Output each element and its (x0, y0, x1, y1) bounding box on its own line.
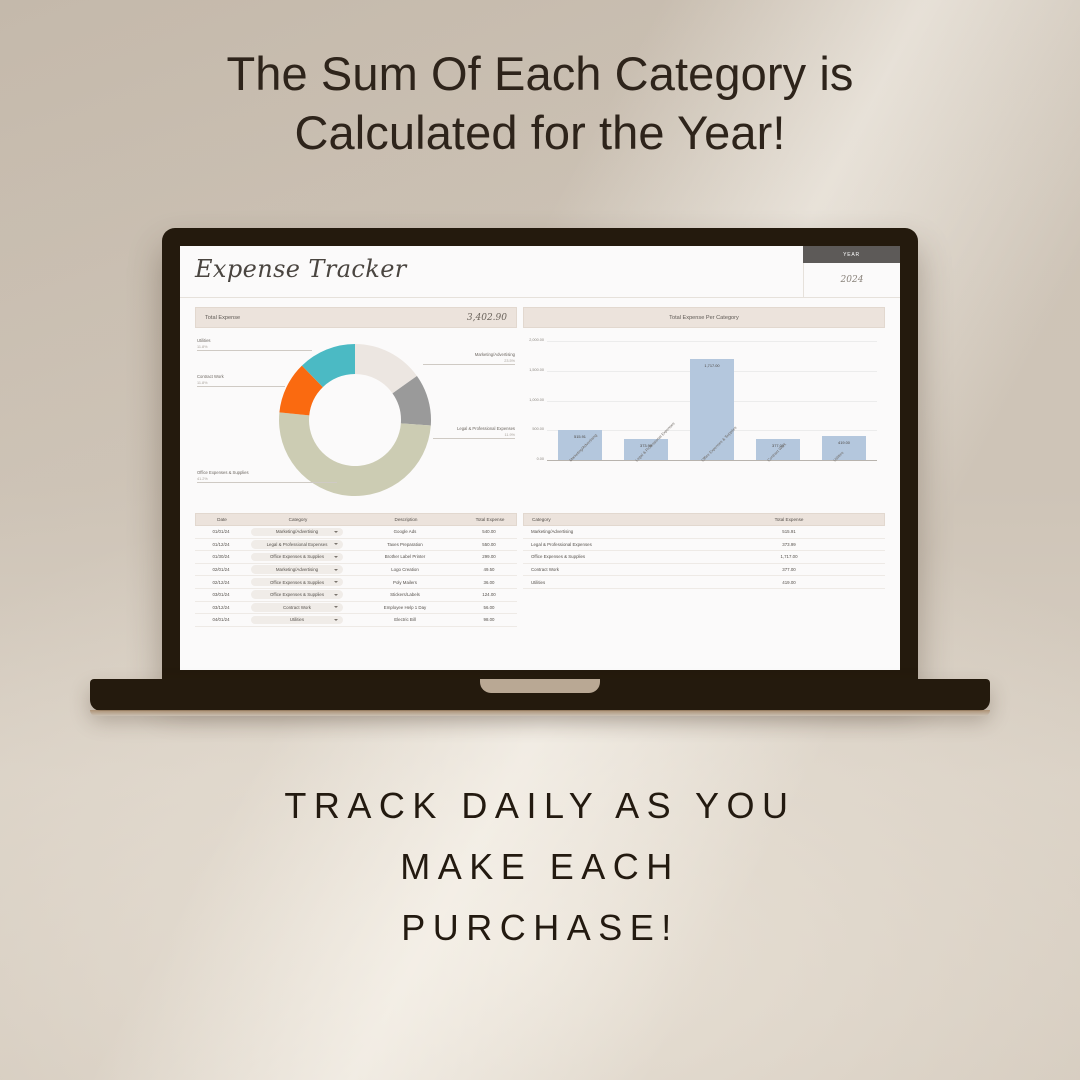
year-selector[interactable]: YEAR 2024 (803, 246, 900, 297)
category-dropdown[interactable]: Marketing/Advertising (251, 528, 343, 537)
year-label: YEAR (803, 246, 900, 263)
cell-description: Poly Mailers (347, 580, 463, 585)
category-dropdown-value: Legal & Professional Expenses (267, 542, 328, 547)
cell-description: Stickers/Labels (347, 592, 463, 597)
bar-column: 1,717.00 (690, 342, 734, 461)
table-row[interactable]: 03/01/24Office Expenses & SuppliesSticke… (195, 589, 517, 602)
y-tick-label: 500.00 (532, 427, 544, 431)
table-row: Office Expenses & Supplies1,717.00 (523, 551, 885, 564)
category-dropdown[interactable]: Contract Work (251, 603, 343, 612)
col-header-date: Date (196, 517, 248, 522)
app-header: Expense Tracker YEAR 2024 (180, 246, 900, 298)
y-tick-label: 0.00 (537, 457, 544, 461)
headline: The Sum Of Each Category is Calculated f… (0, 44, 1080, 162)
cell-category: Utilities (523, 580, 693, 585)
category-dropdown[interactable]: Office Expenses & Supplies (251, 590, 343, 599)
bar-column: 373.99 (624, 342, 668, 461)
cell-amount: 550.00 (463, 542, 515, 547)
chevron-down-icon[interactable] (334, 594, 338, 596)
chevron-down-icon[interactable] (334, 569, 338, 571)
cell-date: 01/01/24 (195, 529, 247, 534)
table-row[interactable]: 01/30/24Office Expenses & SuppliesBrothe… (195, 551, 517, 564)
bar-value-label: 1,717.00 (704, 363, 719, 368)
category-dropdown[interactable]: Legal & Professional Expenses (251, 540, 343, 549)
cell-amount: 540.00 (463, 529, 515, 534)
donut-label-office: Office Expenses & Supplies 41.2% (197, 470, 249, 482)
col-header-amount: Total Expense (464, 517, 516, 522)
kpi-header-row: Total Expense 3,402.90 Total Expense Per… (180, 298, 900, 328)
cell-description: Electric Bill (347, 617, 463, 622)
y-tick-label: 2,000.00 (529, 338, 544, 342)
total-expense-label: Total Expense (205, 315, 240, 321)
transactions-table-header: Date Category Description Total Expense (195, 513, 517, 526)
leader-line-marketing (423, 364, 515, 365)
x-tick: Marketing/Advertising (558, 459, 602, 499)
donut-label-utilities: Utilities 11.8% (197, 338, 211, 350)
cell-date: 02/12/24 (195, 580, 247, 585)
category-dropdown-value: Office Expenses & Supplies (270, 580, 324, 585)
donut-chart-panel: Utilities 11.8% Contract Work 11.8% Offi… (195, 332, 517, 507)
bar-value-label: 515.91 (574, 434, 586, 439)
bar-value-label: 419.00 (838, 440, 850, 445)
cell-amount: 36.00 (463, 580, 515, 585)
cell-category[interactable]: Legal & Professional Expenses (247, 540, 347, 549)
table-row: Marketing/Advertising515.91 (523, 526, 885, 539)
table-row[interactable]: 01/01/24Marketing/AdvertisingGoogle Ads5… (195, 526, 517, 539)
category-dropdown[interactable]: Office Expenses & Supplies (251, 553, 343, 562)
category-dropdown[interactable]: Office Expenses & Supplies (251, 578, 343, 587)
cell-date: 03/01/24 (195, 592, 247, 597)
donut-label-contract-work: Contract Work 11.8% (197, 374, 224, 386)
donut-chart (275, 340, 435, 500)
table-row[interactable]: 02/01/24Marketing/AdvertisingLogo Creati… (195, 564, 517, 577)
footer-line-2: Make Each (0, 836, 1080, 897)
expense-tracker-app: Expense Tracker YEAR 2024 Total Expense … (180, 246, 900, 670)
cell-amount: 124.00 (463, 592, 515, 597)
cell-date: 01/12/24 (195, 542, 247, 547)
charts-row: Utilities 11.8% Contract Work 11.8% Offi… (180, 328, 900, 507)
cell-category: Contract Work (523, 567, 693, 572)
x-tick: Legal & Professional Expenses (624, 459, 668, 499)
x-tick: Utilities (822, 459, 866, 499)
cell-description: Employee Help 1 Day (347, 605, 463, 610)
cell-date: 01/30/24 (195, 554, 247, 559)
transactions-table: Date Category Description Total Expense … (195, 513, 517, 627)
chevron-down-icon[interactable] (334, 543, 338, 545)
summary-table: Category Total Expense Marketing/Adverti… (523, 513, 885, 627)
y-tick-label: 1,500.00 (529, 368, 544, 372)
y-tick-label: 1,000.00 (529, 398, 544, 402)
leader-line-contract-work (197, 386, 285, 387)
bar-chart-panel: 0.00500.001,000.001,500.002,000.00 515.9… (523, 332, 885, 507)
cell-amount: 1,717.00 (693, 554, 885, 559)
table-row[interactable]: 02/12/24Office Expenses & SuppliesPoly M… (195, 576, 517, 589)
cell-category: Marketing/Advertising (523, 529, 693, 534)
x-tick: Contract Work (756, 459, 800, 499)
laptop-base (90, 679, 990, 711)
donut-label-marketing: Marketing/Advertising 23.5% (475, 352, 515, 364)
cell-amount: 299.00 (463, 554, 515, 559)
headline-line-2: Calculated for the Year! (0, 103, 1080, 162)
table-row[interactable]: 01/12/24Legal & Professional ExpensesTax… (195, 539, 517, 552)
cell-amount: 515.91 (693, 529, 885, 534)
summary-col-header-amount: Total Expense (694, 517, 884, 522)
category-dropdown-value: Office Expenses & Supplies (270, 554, 324, 559)
col-header-description: Description (348, 517, 464, 522)
tables-row: Date Category Description Total Expense … (180, 507, 900, 627)
col-header-category: Category (248, 517, 348, 522)
chevron-down-icon[interactable] (334, 556, 338, 558)
laptop-notch (480, 679, 600, 693)
cell-category[interactable]: Office Expenses & Supplies (247, 590, 347, 599)
cell-date: 04/01/24 (195, 617, 247, 622)
cell-description: Google Ads (347, 529, 463, 534)
category-dropdown-value: Office Expenses & Supplies (270, 592, 324, 597)
donut-label-legal: Legal & Professional Expenses 11.9% (457, 426, 515, 438)
per-category-title: Total Expense Per Category (523, 307, 885, 328)
cell-amount: 56.00 (463, 605, 515, 610)
chevron-down-icon[interactable] (334, 581, 338, 583)
footer-copy: Track Daily As You Make Each Purchase! (0, 775, 1080, 958)
category-dropdown[interactable]: Marketing/Advertising (251, 565, 343, 574)
x-tick: Office Expenses & Supplies (690, 459, 734, 499)
table-row: Utilities419.00 (523, 576, 885, 589)
bar-column: 377.00 (756, 342, 800, 461)
laptop-mockup: Expense Tracker YEAR 2024 Total Expense … (90, 228, 990, 713)
laptop-screen: Expense Tracker YEAR 2024 Total Expense … (180, 246, 900, 670)
cell-description: Taxes Preparation (347, 542, 463, 547)
laptop-lid: Expense Tracker YEAR 2024 Total Expense … (162, 228, 918, 688)
bar-chart-x-labels: Marketing/AdvertisingLegal & Professiona… (547, 459, 877, 499)
cell-date: 02/01/24 (195, 567, 247, 572)
cell-description: Logo Creation (347, 567, 463, 572)
cell-amount: 377.00 (693, 567, 885, 572)
cell-category: Legal & Professional Expenses (523, 542, 693, 547)
chevron-down-icon[interactable] (334, 606, 338, 608)
summary-table-header: Category Total Expense (523, 513, 885, 526)
chevron-down-icon[interactable] (334, 619, 338, 621)
bar-chart-bars: 515.91373.991,717.00377.00419.00 (547, 342, 877, 461)
headline-line-1: The Sum Of Each Category is (0, 44, 1080, 103)
cell-category[interactable]: Marketing/Advertising (247, 565, 347, 574)
cell-category[interactable]: Marketing/Advertising (247, 528, 347, 537)
cell-description: Brother Label Printer (347, 554, 463, 559)
category-dropdown[interactable]: Utilities (251, 616, 343, 625)
category-dropdown-value: Contract Work (283, 605, 311, 610)
chevron-down-icon[interactable] (334, 531, 338, 533)
leader-line-legal (433, 438, 515, 439)
cell-category[interactable]: Office Expenses & Supplies (247, 553, 347, 562)
bar-chart: 0.00500.001,000.001,500.002,000.00 515.9… (547, 342, 877, 461)
cell-category: Office Expenses & Supplies (523, 554, 693, 559)
category-dropdown-value: Marketing/Advertising (276, 529, 318, 534)
cell-date: 03/12/24 (195, 605, 247, 610)
donut-hole (313, 378, 397, 462)
table-row: Contract Work377.00 (523, 564, 885, 577)
cell-amount: 373.99 (693, 542, 885, 547)
table-row[interactable]: 04/01/24UtilitiesElectric Bill98.00 (195, 614, 517, 627)
cell-category[interactable]: Utilities (247, 616, 347, 625)
table-row: Legal & Professional Expenses373.99 (523, 539, 885, 552)
table-row[interactable]: 03/12/24Contract WorkEmployee Help 1 Day… (195, 602, 517, 615)
cell-category[interactable]: Office Expenses & Supplies (247, 578, 347, 587)
bar-column: 419.00 (822, 342, 866, 461)
footer-line-3: Purchase! (0, 897, 1080, 958)
footer-line-1: Track Daily As You (0, 775, 1080, 836)
leader-line-utilities (197, 350, 312, 351)
cell-amount: 98.00 (463, 617, 515, 622)
summary-col-header-category: Category (524, 517, 694, 522)
leader-line-office (197, 482, 337, 483)
total-expense-value: 3,402.90 (467, 313, 507, 323)
bar-column: 515.91 (558, 342, 602, 461)
cell-amount: 49.50 (463, 567, 515, 572)
cell-category[interactable]: Contract Work (247, 603, 347, 612)
total-expense-card: Total Expense 3,402.90 (195, 307, 517, 328)
category-dropdown-value: Marketing/Advertising (276, 567, 318, 572)
category-dropdown-value: Utilities (290, 617, 304, 622)
year-value[interactable]: 2024 (803, 263, 900, 297)
cell-amount: 419.00 (693, 580, 885, 585)
page-title: Expense Tracker (195, 255, 407, 283)
